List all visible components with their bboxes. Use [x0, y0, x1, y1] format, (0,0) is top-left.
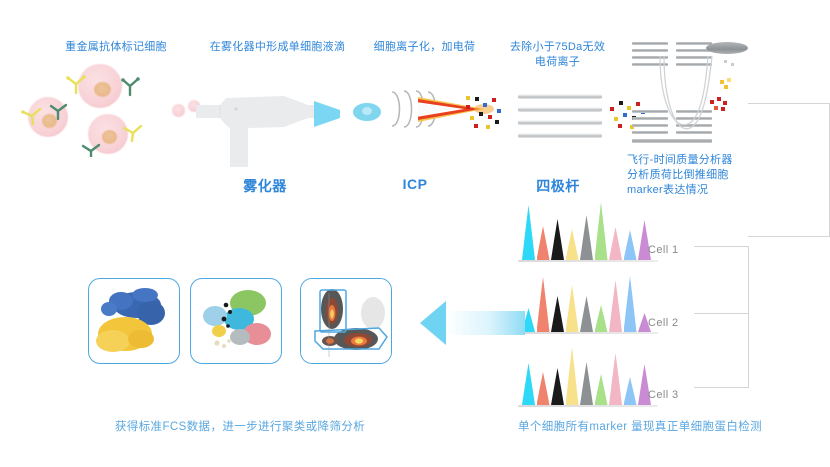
label-ionization: 细胞离子化，加电荷 [357, 40, 492, 55]
peak-marker [522, 205, 535, 260]
quadrupole-rod [518, 133, 602, 138]
peak-marker [609, 227, 622, 260]
connector-tof-to-cell1 [748, 103, 830, 237]
fcs-panel-density-gated[interactable] [300, 278, 392, 364]
peak-marker [551, 219, 564, 260]
flow-arrow-left [420, 300, 525, 346]
tof-analyzer [630, 38, 755, 148]
single-droplet-icon [352, 100, 386, 124]
peak-marker [609, 280, 622, 332]
ion-cloud-unfiltered [462, 93, 508, 133]
connector-tof-to-cell2 [694, 246, 749, 314]
fcs-panel-cluster-multicolor[interactable] [190, 278, 282, 364]
quadrupole-rod [518, 94, 602, 99]
peak-marker [624, 377, 637, 405]
label-nebulizer-droplets: 在雾化器中形成单细胞液滴 [185, 40, 370, 55]
device-quadrupole: 四极杆 [513, 176, 603, 196]
peak-chart-cell-2 [518, 268, 658, 334]
peak-marker [551, 368, 564, 405]
cell-label-1: Cell 1 [648, 244, 679, 256]
device-nebulizer: 雾化器 [210, 176, 320, 196]
peak-marker [522, 363, 535, 405]
peak-marker [595, 305, 608, 332]
quadrupole-rods [518, 94, 602, 140]
caption-single-cell: 单个细胞所有marker 量现真正单细胞蛋白检测 [470, 418, 810, 434]
cell-label-2: Cell 2 [648, 317, 679, 329]
peak-baseline [518, 405, 658, 407]
peak-chart-cell-3 [518, 341, 658, 407]
caption-fcs: 获得标准FCS数据，进一步进行聚类或降筛分析 [70, 418, 410, 434]
quadrupole-rod [518, 107, 602, 112]
peak-marker [595, 202, 608, 260]
label-mass-filter: 去除小于75Da无效 电荷离子 [495, 40, 620, 70]
label-tof-analysis: 飞行-时间质量分析器 分析质荷比倒推细胞 marker表达情况 [627, 153, 762, 198]
peak-marker [537, 226, 550, 260]
nebulizer-device [196, 92, 341, 167]
peak-marker [566, 285, 579, 332]
peak-marker [580, 362, 593, 405]
labeled-cells-illustration [20, 62, 170, 157]
antibody-icon [20, 62, 170, 157]
peak-marker [566, 347, 579, 405]
peak-marker [624, 276, 637, 332]
label-antibody-staining: 重金属抗体标记细胞 [26, 40, 206, 55]
diagram-canvas: 重金属抗体标记细胞 在雾化器中形成单细胞液滴 细胞离子化，加电荷 去除小于75D… [0, 0, 830, 467]
peak-marker [537, 372, 550, 405]
peak-chart-cell-1 [518, 196, 658, 262]
peak-marker [609, 353, 622, 405]
peak-marker [580, 215, 593, 260]
peak-baseline [518, 332, 658, 334]
quadrupole-rod [518, 120, 602, 125]
peak-marker [595, 374, 608, 405]
peak-marker [624, 230, 637, 260]
spray-cone-icon [314, 97, 354, 131]
peak-marker [580, 296, 593, 332]
fcs-panel-tsne-blue-yellow[interactable] [88, 278, 180, 364]
droplet [172, 104, 185, 117]
cell-label-3: Cell 3 [648, 389, 679, 401]
peak-marker [551, 296, 564, 332]
peak-marker [566, 229, 579, 260]
connector-tof-to-cell3 [694, 314, 749, 388]
device-icp: ICP [380, 176, 450, 192]
peak-marker [537, 277, 550, 332]
peak-baseline [518, 260, 658, 262]
